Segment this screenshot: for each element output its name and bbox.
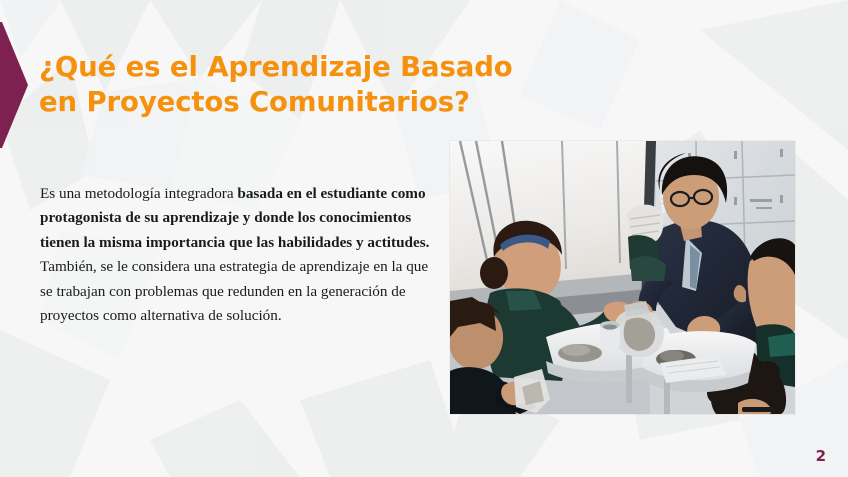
- page-number: 2: [816, 447, 826, 465]
- body-segment-normal-1: Es una metodología integradora: [40, 185, 237, 202]
- slide-title-line-1: ¿Qué es el Aprendizaje Basado: [39, 50, 509, 85]
- classroom-photo: [450, 141, 795, 414]
- body-segment-normal-2: También, se le considera una estrategia …: [40, 258, 428, 324]
- left-maroon-accent-shape: [0, 22, 28, 148]
- body-paragraph: Es una metodología integradora basada en…: [40, 182, 440, 328]
- slide-title-line-2: en Proyectos Comunitarios?: [39, 85, 509, 120]
- slide: ¿Qué es el Aprendizaje Basado en Proyect…: [0, 0, 848, 477]
- slide-title: ¿Qué es el Aprendizaje Basado en Proyect…: [39, 50, 509, 119]
